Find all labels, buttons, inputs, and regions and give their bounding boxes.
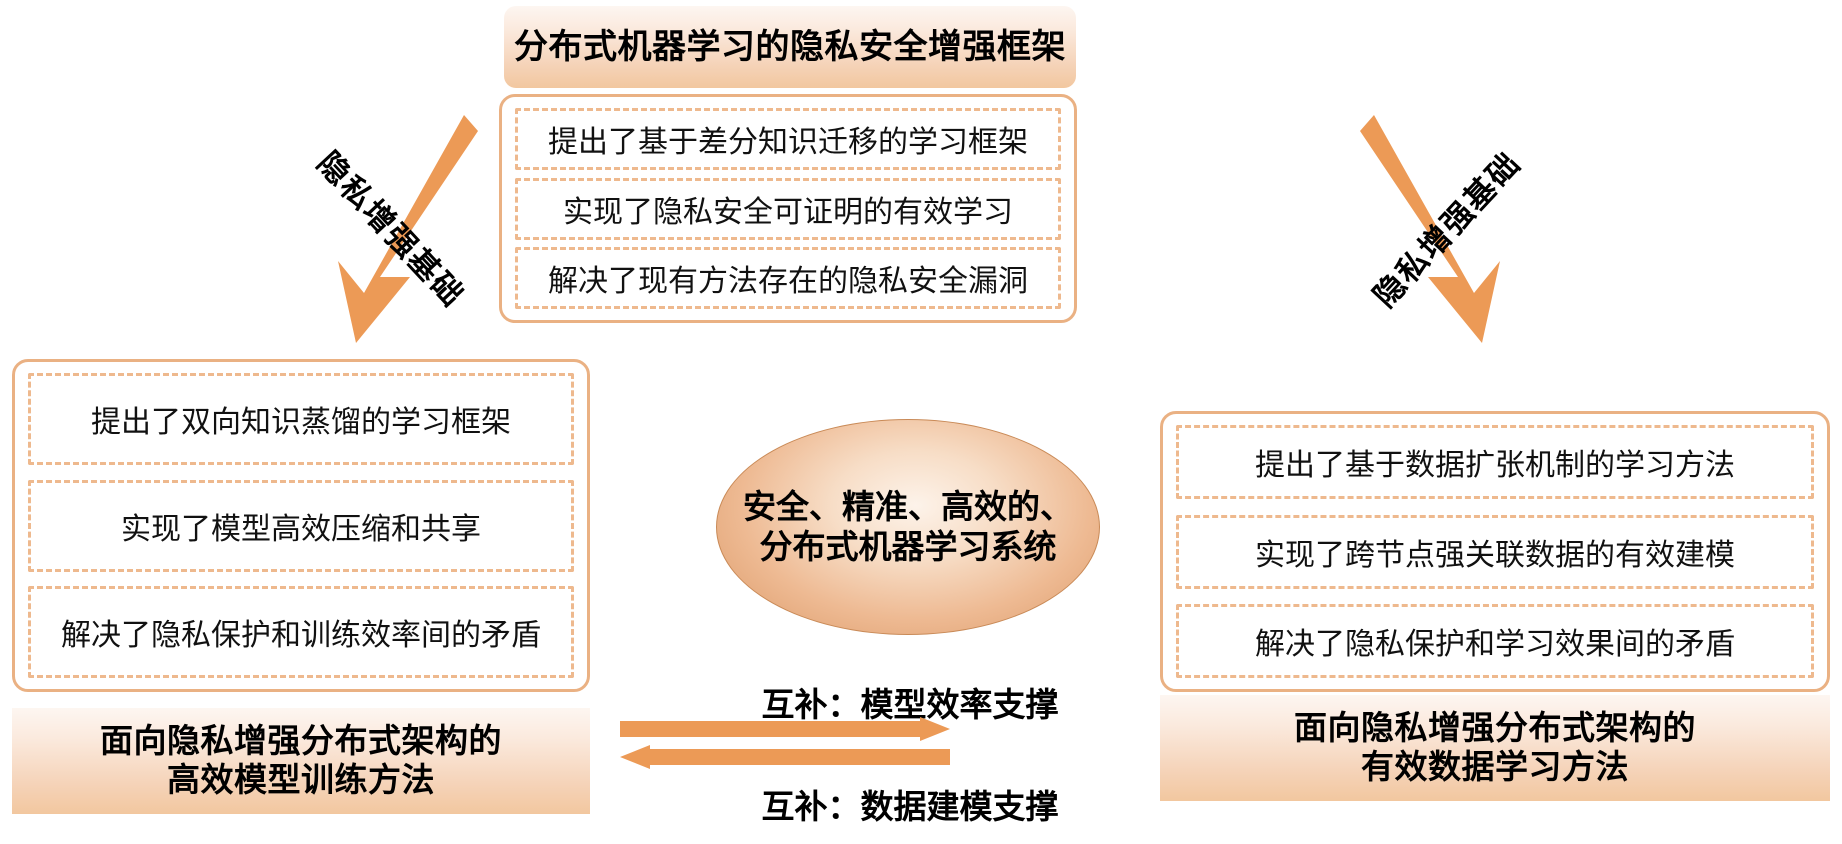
top-panel-item-2: 实现了隐私安全可证明的有效学习 (515, 178, 1061, 240)
right-panel-item-1-text: 提出了基于数据扩张机制的学习方法 (1255, 440, 1735, 484)
left-method-header-bar: 面向隐私增强分布式架构的 高效模型训练方法 (12, 708, 590, 814)
bottom-arrow-right (620, 717, 950, 741)
arrow-right-icon (620, 717, 950, 741)
left-panel: 提出了双向知识蒸馏的学习框架 实现了模型高效压缩和共享 解决了隐私保护和训练效率… (12, 359, 590, 692)
right-method-header-line-2: 有效数据学习方法 (1361, 748, 1629, 787)
framework-title-bar: 分布式机器学习的隐私安全增强框架 (504, 6, 1076, 88)
top-panel-item-3: 解决了现有方法存在的隐私安全漏洞 (515, 247, 1061, 309)
left-panel-item-2: 实现了模型高效压缩和共享 (28, 480, 574, 572)
diagram-canvas: 分布式机器学习的隐私安全增强框架 提出了基于差分知识迁移的学习框架 实现了隐私安… (0, 0, 1842, 844)
top-panel-item-2-text: 实现了隐私安全可证明的有效学习 (563, 187, 1013, 231)
left-panel-item-3-text: 解决了隐私保护和训练效率间的矛盾 (61, 610, 541, 654)
bottom-arrow-bottom-label: 互补：数据建模支撑 (700, 780, 1120, 828)
left-panel-item-2-text: 实现了模型高效压缩和共享 (121, 504, 481, 548)
right-method-header-line-1: 面向隐私增强分布式架构的 (1294, 709, 1696, 748)
right-method-header-bar: 面向隐私增强分布式架构的 有效数据学习方法 (1160, 695, 1830, 801)
bottom-arrow-left (620, 745, 950, 769)
center-system-line-2: 分布式机器学习系统 (743, 527, 1073, 567)
center-system-line-1: 安全、精准、高效的、 (743, 487, 1073, 527)
top-panel-item-1: 提出了基于差分知识迁移的学习框架 (515, 108, 1061, 170)
left-panel-item-3: 解决了隐私保护和训练效率间的矛盾 (28, 586, 574, 678)
right-panel-item-2-text: 实现了跨节点强关联数据的有效建模 (1255, 530, 1735, 574)
top-panel: 提出了基于差分知识迁移的学习框架 实现了隐私安全可证明的有效学习 解决了现有方法… (499, 94, 1077, 323)
left-method-header-line-2: 高效模型训练方法 (167, 761, 435, 800)
center-system-text: 安全、精准、高效的、 分布式机器学习系统 (743, 487, 1073, 566)
left-method-header-line-1: 面向隐私增强分布式架构的 (100, 722, 502, 761)
arrow-left-icon (620, 745, 950, 769)
framework-title-text: 分布式机器学习的隐私安全增强框架 (514, 27, 1066, 67)
right-panel-item-1: 提出了基于数据扩张机制的学习方法 (1176, 425, 1814, 499)
left-panel-item-1: 提出了双向知识蒸馏的学习框架 (28, 373, 574, 465)
right-panel-item-3-text: 解决了隐私保护和学习效果间的矛盾 (1255, 619, 1735, 663)
right-panel-item-3: 解决了隐私保护和学习效果间的矛盾 (1176, 604, 1814, 678)
right-panel: 提出了基于数据扩张机制的学习方法 实现了跨节点强关联数据的有效建模 解决了隐私保… (1160, 411, 1830, 692)
right-panel-item-2: 实现了跨节点强关联数据的有效建模 (1176, 515, 1814, 589)
center-system-ellipse: 安全、精准、高效的、 分布式机器学习系统 (716, 419, 1100, 635)
left-panel-item-1-text: 提出了双向知识蒸馏的学习框架 (91, 397, 511, 441)
top-panel-item-3-text: 解决了现有方法存在的隐私安全漏洞 (548, 256, 1028, 300)
top-panel-item-1-text: 提出了基于差分知识迁移的学习框架 (548, 117, 1028, 161)
